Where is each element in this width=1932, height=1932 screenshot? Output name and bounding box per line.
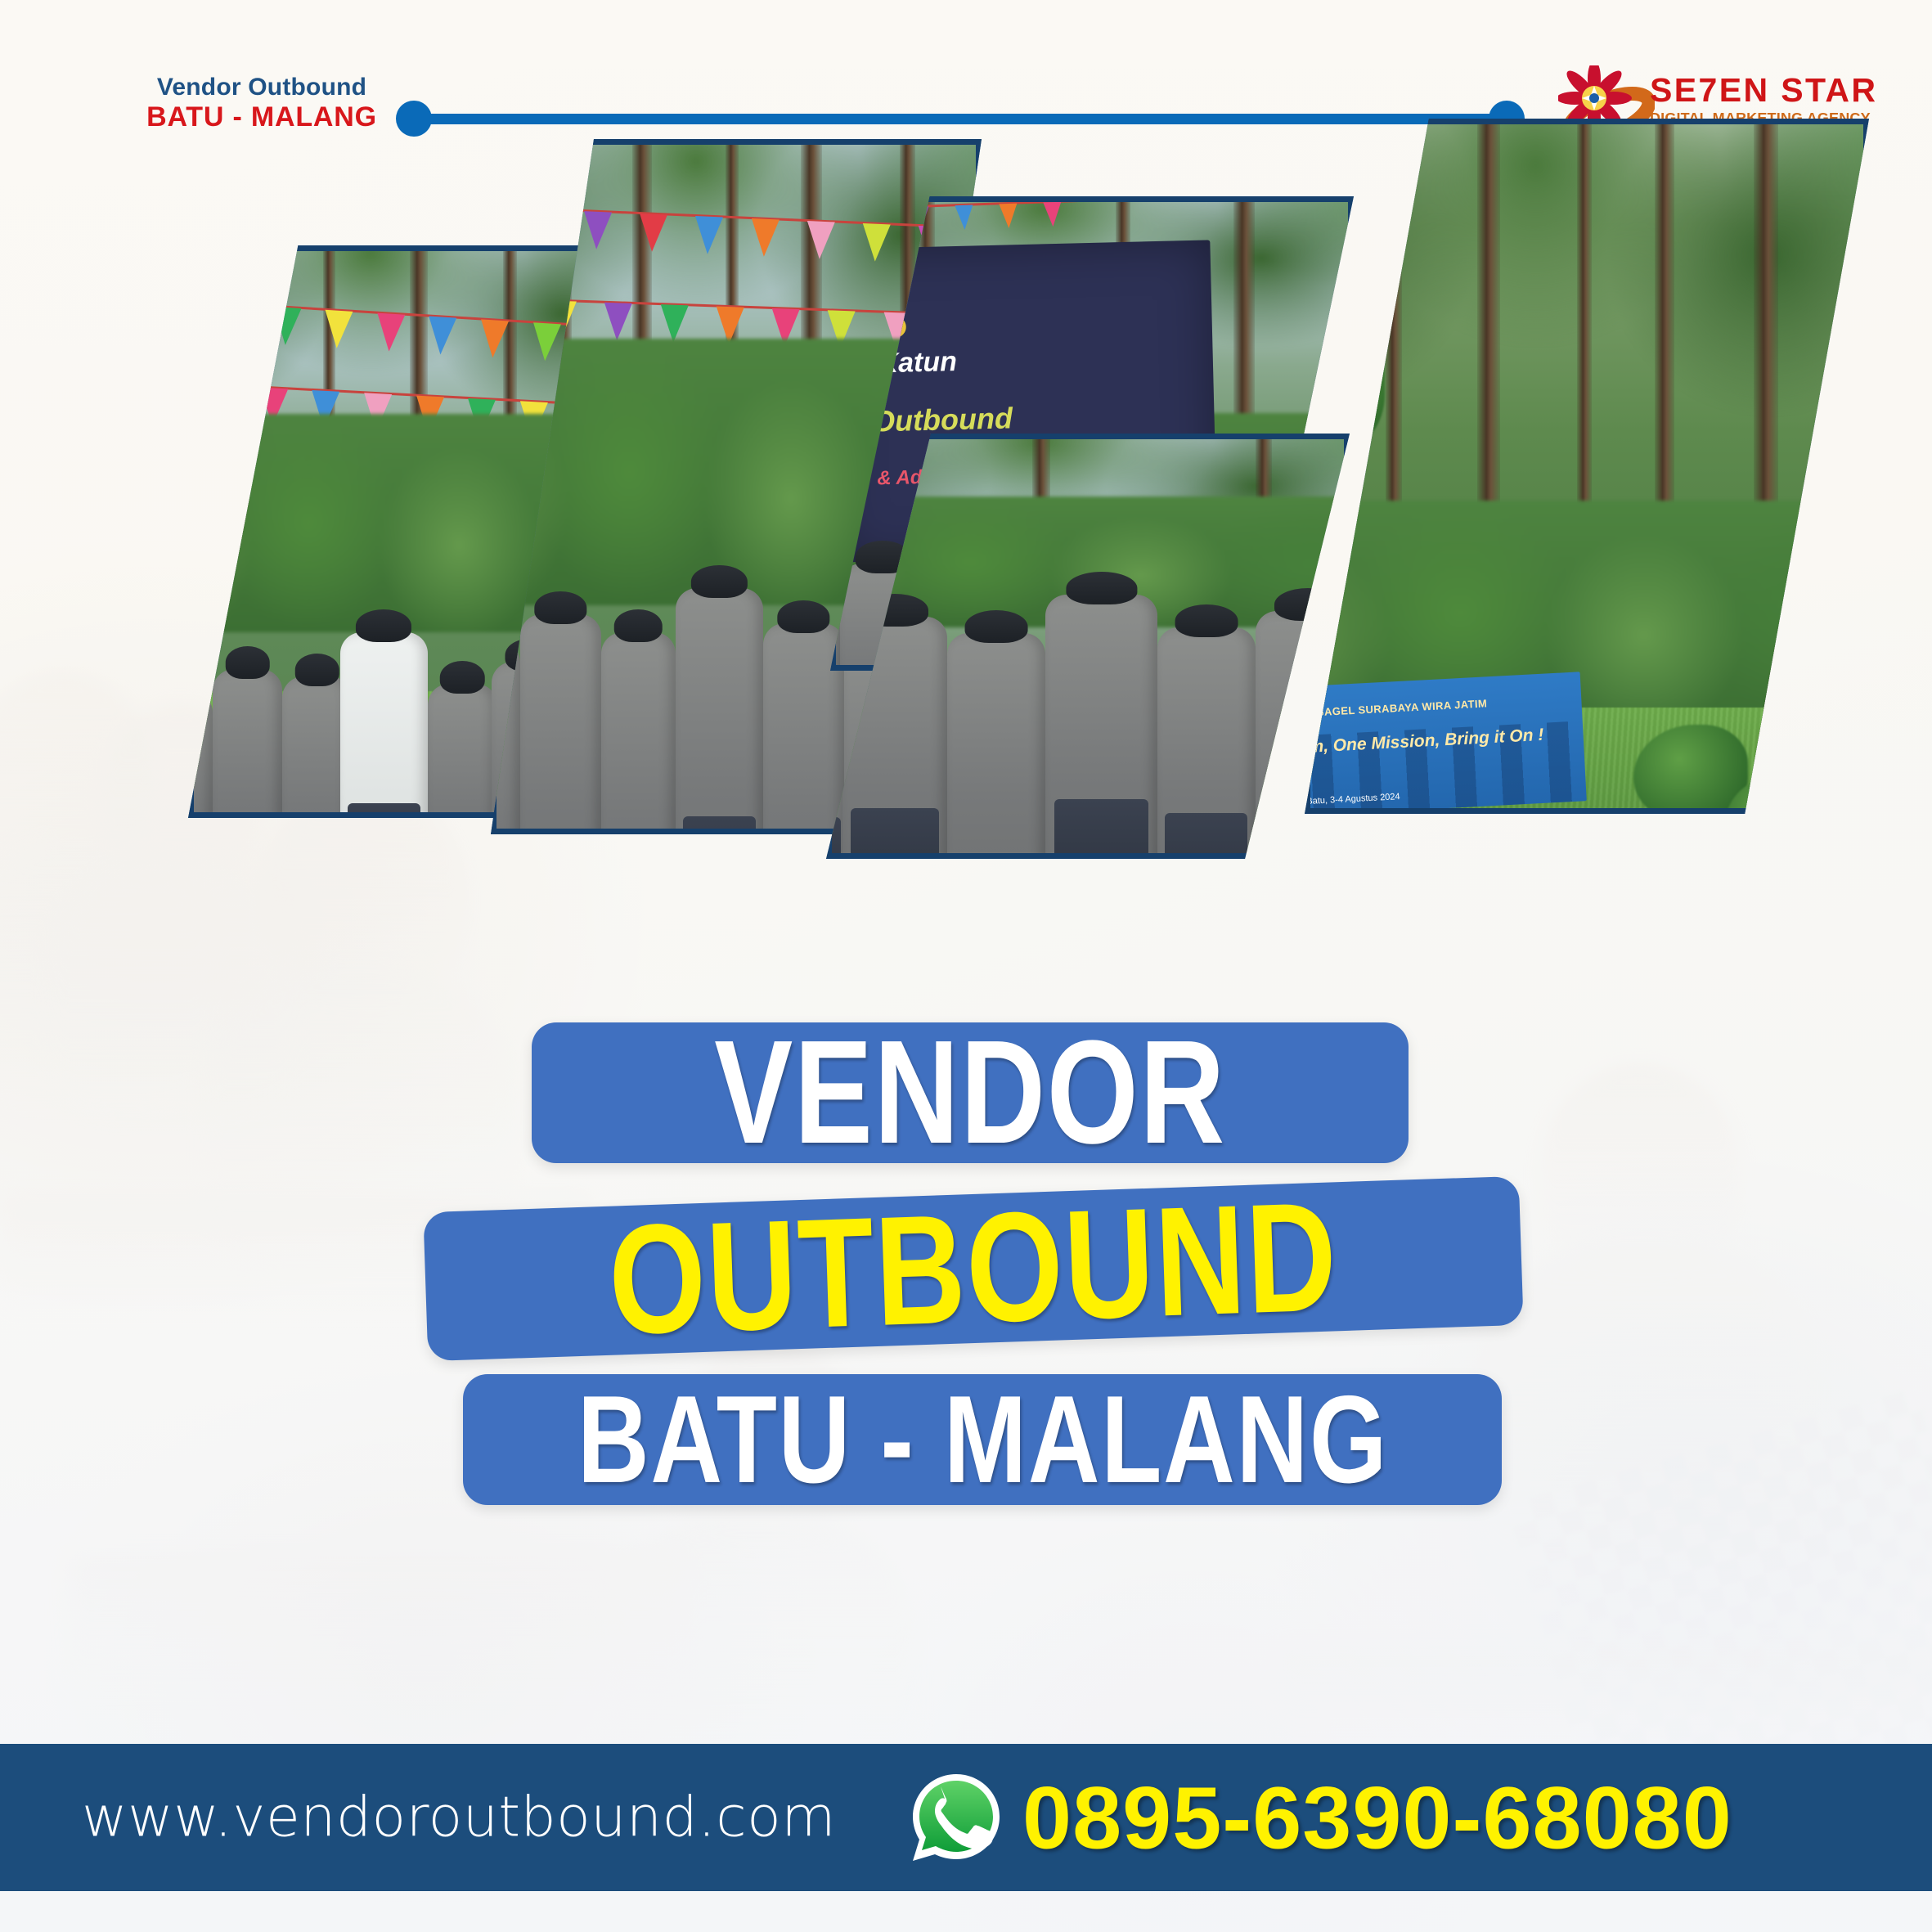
collage-photo-4: PT. KABEL NGAGEL SURABAYA WIRA JATIM One… xyxy=(1305,119,1869,814)
company-banner-line-1: PT. KABEL NGAGEL SURABAYA WIRA JATIM xyxy=(1310,698,1488,722)
whatsapp-icon[interactable] xyxy=(908,1769,1004,1866)
logo-text-block: SE7EN STAR DIGITAL MARKETING AGENCY xyxy=(1650,74,1822,126)
whatsapp-phone-number[interactable]: 0895-6390-68080 xyxy=(1022,1767,1732,1869)
headline-text-outbound: OUTBOUND xyxy=(607,1179,1341,1358)
footer-bar: www.vendoroutbound.com 0895-6390-68080 xyxy=(0,1744,1932,1891)
brand-line-2: BATU - MALANG xyxy=(131,101,393,133)
company-banner-large: PT. KABEL NGAGEL SURABAYA WIRA JATIM One… xyxy=(1310,672,1587,808)
website-text[interactable]: www.vendoroutbound.com xyxy=(82,1786,836,1850)
brand-line-1: Vendor Outbound xyxy=(131,74,393,101)
photo-collage: Katun Outbound & Adventure xyxy=(0,164,1932,1031)
headline-text-vendor: VENDOR xyxy=(714,1019,1226,1166)
header-divider xyxy=(396,101,1525,137)
logo-name: SE7EN STAR xyxy=(1650,74,1822,107)
headline-bar-batu-malang: BATU - MALANG xyxy=(463,1374,1502,1505)
headline-bar-vendor: VENDOR xyxy=(532,1022,1409,1163)
headline-bar-outbound: OUTBOUND xyxy=(423,1176,1523,1361)
headline-group: VENDOR OUTBOUND BATU - MALANG xyxy=(0,1008,1932,1556)
headline-text-batu-malang: BATU - MALANG xyxy=(577,1377,1387,1502)
divider-line xyxy=(414,114,1507,124)
poster-canvas: Vendor Outbound BATU - MALANG xyxy=(0,0,1932,1932)
brand-block: Vendor Outbound BATU - MALANG xyxy=(131,74,393,133)
katun-line-2: Outbound xyxy=(872,402,1013,439)
